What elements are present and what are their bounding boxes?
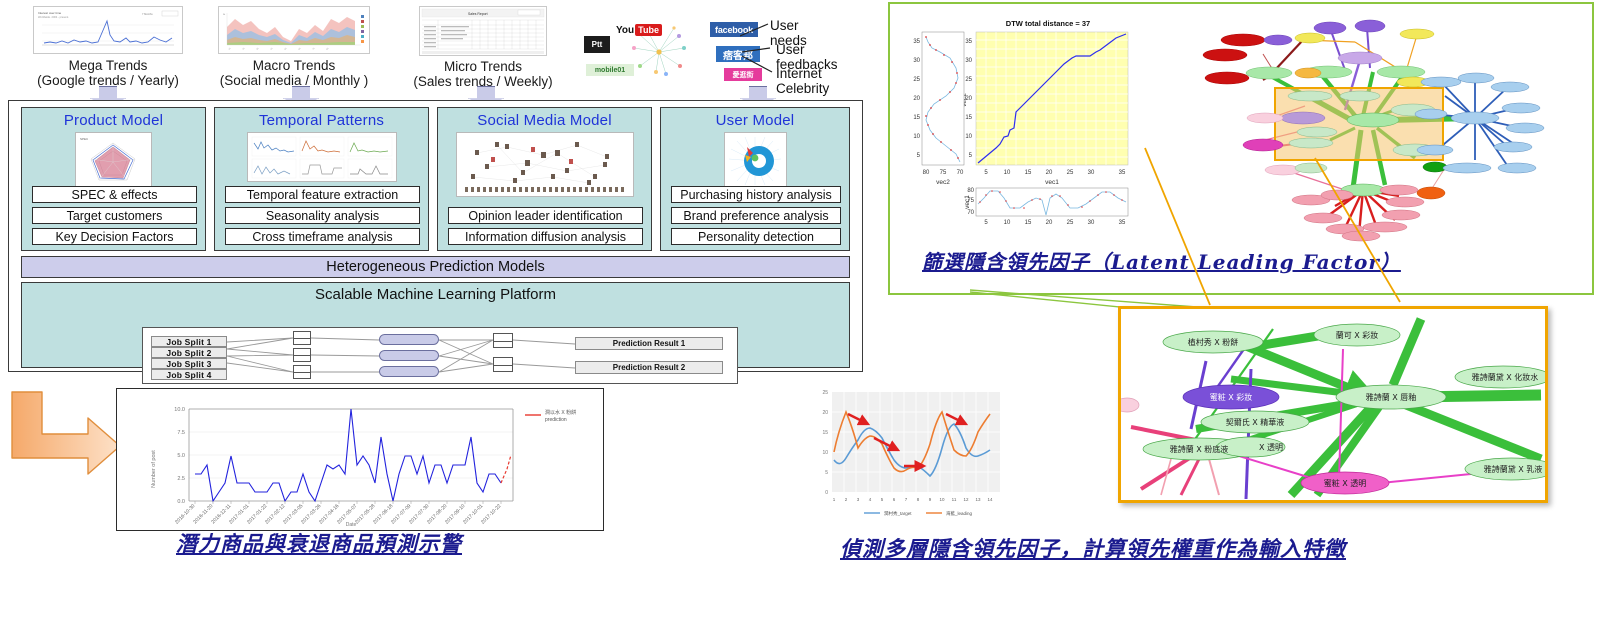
detail-node-label: 雅詩蘭黛 X 乳液 — [1484, 464, 1543, 474]
micro-trends-caption: Micro Trends (Sales trends / Weekly) — [408, 59, 558, 89]
time-series-grid-thumbnail — [247, 132, 397, 182]
svg-text:20: 20 — [822, 410, 828, 416]
svg-text:25: 25 — [965, 77, 972, 83]
stacked-area-thumbnail: 5k 1/1 2/1 3/1 4/1 5/1 6/1 7/1 8/1 — [219, 7, 369, 53]
svg-text:7 Months: 7 Months — [142, 12, 153, 16]
target-leading-line-chart: 252015 1050 123 456 789 101112 1314 — [806, 382, 1012, 520]
model-card-user: User Model P — [660, 107, 850, 251]
legend-series-label: 潤以水 X 粉餅 — [545, 409, 576, 416]
heterogeneous-prediction-models-bar: Heterogeneous Prediction Models — [21, 256, 850, 278]
mobile01-logo: mobile01 — [586, 64, 634, 76]
job-split-2: Job Split 2 — [151, 347, 227, 358]
architecture-frame: Product Model SPEC SPEC & effects Target… — [8, 100, 863, 372]
svg-text:15: 15 — [965, 115, 972, 121]
product-item-1: Target customers — [32, 207, 197, 224]
model-title-user: User Model — [716, 112, 795, 129]
user-item-2: Personality detection — [671, 228, 841, 245]
svg-text:5: 5 — [825, 470, 828, 476]
mapper-node-2 — [293, 348, 311, 362]
model-card-social: Social Media Model — [437, 107, 652, 251]
source-mega-trends: Interest over time Worldwide. 2004 - pre… — [33, 6, 183, 88]
user-gear-thumbnail — [724, 132, 787, 189]
svg-text:12: 12 — [963, 497, 969, 502]
detail-node-label: 蜜粧 X 透明 — [1324, 478, 1367, 488]
legend-target: 潤村秀_target — [884, 510, 912, 517]
product-item-0: SPEC & effects — [32, 186, 197, 203]
detail-node-label: 雅詩蘭黛 X 化妝水 — [1472, 372, 1539, 382]
mega-trends-title: Mega Trends — [33, 58, 183, 73]
shuffle-node-2 — [379, 350, 439, 361]
svg-text:15: 15 — [822, 430, 828, 436]
svg-text:13: 13 — [975, 497, 981, 502]
svg-text:Worldwide. 2004 - present.: Worldwide. 2004 - present. — [38, 15, 69, 19]
svg-text:11: 11 — [952, 497, 957, 502]
macro-trends-thumbnail: 5k 1/1 2/1 3/1 4/1 5/1 6/1 7/1 8/1 — [218, 6, 370, 54]
leader-connector-lines — [740, 18, 780, 88]
flow-arrow-to-forecast — [6, 388, 126, 484]
svg-text:10.0: 10.0 — [174, 407, 185, 413]
ptt-logo: Ptt — [584, 36, 610, 53]
user-item-0: Purchasing history analysis — [671, 186, 841, 203]
svg-text:SPEC: SPEC — [80, 137, 89, 141]
micro-trends-title: Micro Trends — [408, 59, 558, 74]
sales-report-table-thumbnail: Sales Report — [420, 7, 546, 55]
network-detail-frame: 植村秀 X 粉餅 蘭可 X 彩妝 蜜粧 X 彩妝 契爾氏 X 精華液 雅詩蘭 X… — [1118, 306, 1548, 503]
svg-text:30: 30 — [965, 58, 972, 64]
shuffle-node-1 — [379, 334, 439, 345]
job-split-3: Job Split 3 — [151, 358, 227, 369]
radar-chart-thumbnail: SPEC — [75, 132, 152, 189]
social-media-source-cluster: Ptt You Tube facebook 痞客邦 mobile01 愛逛街 — [584, 14, 884, 86]
job-split-1: Job Split 1 — [151, 336, 227, 347]
macro-trends-title: Macro Trends — [218, 58, 370, 73]
mega-trends-thumbnail: Interest over time Worldwide. 2004 - pre… — [33, 6, 183, 54]
svg-text:Sales Report: Sales Report — [468, 12, 488, 16]
prediction-result-1: Prediction Result 1 — [575, 337, 723, 350]
user-item-1: Brand preference analysis — [671, 207, 841, 224]
svg-text:10: 10 — [939, 497, 945, 502]
reducer-node-1 — [493, 333, 513, 348]
google-trends-sparkline: Interest over time Worldwide. 2004 - pre… — [34, 7, 182, 53]
mapper-node-3 — [293, 365, 311, 379]
forecast-line-chart: 10.07.5 5.02.5 0.0 Number of post Date 2… — [117, 389, 601, 528]
dtw-title: DTW total distance = 37 — [1006, 19, 1090, 28]
temporal-item-2: Cross timeframe analysis — [225, 228, 420, 245]
macro-trends-subtitle: (Social media / Monthly ) — [218, 73, 370, 88]
svg-text:35: 35 — [913, 39, 920, 45]
mega-trends-caption: Mega Trends (Google trends / Yearly) — [33, 58, 183, 88]
svg-text:Number of post: Number of post — [151, 450, 157, 488]
network-detail-svg: 植村秀 X 粉餅 蘭可 X 彩妝 蜜粧 X 彩妝 契爾氏 X 精華液 雅詩蘭 X… — [1121, 309, 1545, 500]
forecast-caption: 潛力商品與衰退商品預測示警 — [176, 529, 596, 559]
social-network-thumbnail — [456, 132, 634, 197]
shuffle-node-3 — [379, 366, 439, 377]
svg-text:5.0: 5.0 — [177, 453, 185, 459]
macro-trends-caption: Macro Trends (Social media / Monthly ) — [218, 58, 370, 88]
temporal-item-1: Seasonality analysis — [225, 207, 420, 224]
scalable-ml-platform-title: Scalable Machine Learning Platform — [22, 283, 849, 303]
svg-text:2.5: 2.5 — [177, 476, 185, 482]
forecast-chart-panel: 10.07.5 5.02.5 0.0 Number of post Date 2… — [116, 388, 604, 531]
model-title-temporal: Temporal Patterns — [259, 112, 384, 129]
mega-trends-subtitle: (Google trends / Yearly) — [33, 73, 183, 88]
svg-text:7.5: 7.5 — [177, 430, 185, 436]
svg-text:35: 35 — [965, 39, 972, 45]
temporal-item-0: Temporal feature extraction — [225, 186, 420, 203]
model-title-social: Social Media Model — [477, 112, 612, 129]
youtube-logo: You Tube — [616, 24, 662, 36]
detail-node-label: 蘭可 X 彩妝 — [1336, 330, 1379, 340]
svg-text:25: 25 — [822, 390, 828, 396]
label-internet-celebrity: Internet Celebrity — [776, 66, 829, 96]
social-item-1: Information diffusion analysis — [448, 228, 643, 245]
svg-text:0.0: 0.0 — [177, 499, 185, 505]
detail-node-label: 契爾氏 X 精華液 — [1226, 417, 1285, 427]
model-card-product: Product Model SPEC SPEC & effects Target… — [21, 107, 206, 251]
svg-text:Interest over time: Interest over time — [38, 11, 62, 15]
reducer-node-2 — [493, 357, 513, 372]
model-card-temporal: Temporal Patterns Temporal feature extra… — [214, 107, 429, 251]
scalable-ml-platform-box: Scalable Machine Learning Platform Job S… — [21, 282, 850, 368]
svg-text:14: 14 — [987, 497, 993, 502]
social-item-0: Opinion leader identification — [448, 207, 643, 224]
svg-text:20: 20 — [913, 96, 920, 102]
svg-text:30: 30 — [913, 58, 920, 64]
svg-text:5k: 5k — [223, 14, 225, 16]
svg-text:prediction: prediction — [545, 417, 567, 423]
product-item-2: Key Decision Factors — [32, 228, 197, 245]
svg-text:25: 25 — [913, 77, 920, 83]
multilayer-leading-factor-caption: 偵測多層隱含領先因子，計算領先權重作為輸入特徵 — [840, 534, 1530, 564]
detail-node-label: X 透明 — [1259, 443, 1283, 452]
platform-pipeline-diagram: Job Split 1 Job Split 2 Job Split 3 Job … — [142, 327, 738, 384]
job-split-4: Job Split 4 — [151, 369, 227, 380]
source-macro-trends: 5k 1/1 2/1 3/1 4/1 5/1 6/1 7/1 8/1 — [218, 6, 370, 88]
svg-text:10: 10 — [822, 450, 828, 456]
legend-leading: 海藍_leading — [946, 510, 973, 517]
svg-text:15: 15 — [913, 115, 920, 121]
svg-text:0: 0 — [825, 490, 828, 496]
prediction-result-2: Prediction Result 2 — [575, 361, 723, 374]
detail-node-label: 雅詩蘭 X 唇釉 — [1366, 392, 1417, 402]
detail-node-label: 植村秀 X 粉餅 — [1188, 337, 1239, 347]
source-micro-trends: Sales Report Micr — [408, 6, 558, 89]
leading-indicator-chart: 252015 1050 123 456 789 101112 1314 — [806, 382, 1014, 522]
detail-node-label: 蜜粧 X 彩妝 — [1210, 392, 1253, 402]
detail-node-label: 雅詩蘭 X 粉底液 — [1170, 444, 1229, 454]
model-title-product: Product Model — [64, 112, 163, 129]
micro-trends-thumbnail: Sales Report — [419, 6, 547, 56]
mapper-node-1 — [293, 331, 311, 345]
